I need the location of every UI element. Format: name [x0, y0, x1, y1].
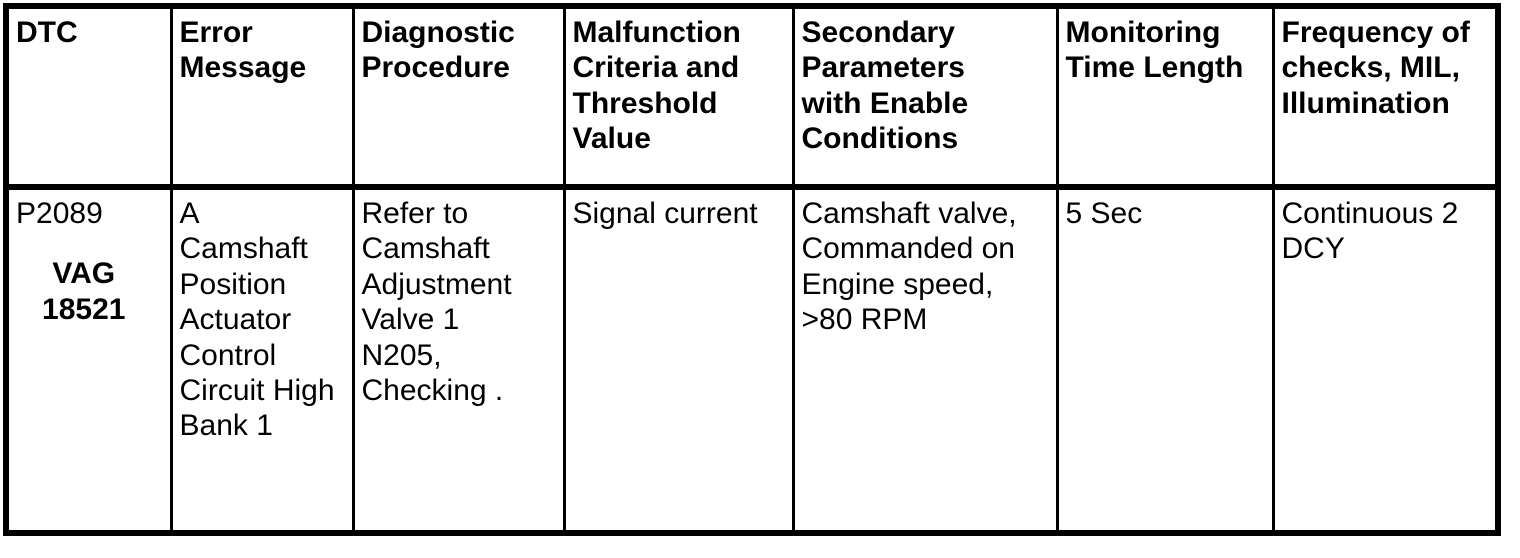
cell-diagnostic-procedure: Refer to Camshaft Adjustment Valve 1 N20…	[353, 187, 564, 533]
cell-line: Adjustment	[362, 267, 559, 302]
cell-line: Circuit High	[180, 373, 348, 408]
header-line: DTC	[16, 15, 166, 50]
header-line: Threshold	[573, 86, 788, 121]
cell-line: A	[180, 196, 348, 231]
cell-line: N205,	[362, 338, 559, 373]
cell-secondary-parameters: Camshaft valve, Commanded on Engine spee…	[793, 187, 1057, 533]
header-line: Procedure	[362, 50, 559, 85]
cell-line: Control	[180, 338, 348, 373]
cell-dtc: P2089 VAG 18521	[6, 187, 171, 533]
header-line: Secondary	[802, 15, 1052, 50]
cell-line: Valve 1	[362, 302, 559, 337]
column-header-monitoring-time-length: Monitoring Time Length	[1057, 6, 1273, 187]
header-line: Conditions	[802, 121, 1052, 156]
cell-line: Camshaft valve,	[802, 196, 1052, 231]
cell-line: Refer to	[362, 196, 559, 231]
cell-frequency-mil: Continuous 2 DCY	[1273, 187, 1498, 533]
dtc-vag-group: VAG 18521	[16, 256, 166, 327]
cell-line: Engine speed,	[802, 267, 1052, 302]
dtc-code: P2089	[16, 196, 166, 231]
cell-malfunction-criteria: Signal current	[564, 187, 793, 533]
cell-line: Bank 1	[180, 408, 348, 443]
column-header-malfunction-criteria: Malfunction Criteria and Threshold Value	[564, 6, 793, 187]
table-row: P2089 VAG 18521 A Camshaft Position Actu…	[6, 187, 1498, 533]
header-line: Criteria and	[573, 50, 788, 85]
table-header: DTC Error Message Diagnostic Procedure M…	[6, 6, 1498, 187]
cell-line: 5 Sec	[1066, 196, 1268, 231]
header-line: Malfunction	[573, 15, 788, 50]
cell-error-message: A Camshaft Position Actuator Control Cir…	[171, 187, 353, 533]
column-header-diagnostic-procedure: Diagnostic Procedure	[353, 6, 564, 187]
cell-line: >80 RPM	[802, 302, 1052, 337]
cell-line: Camshaft	[362, 231, 559, 266]
column-header-error-message: Error Message	[171, 6, 353, 187]
header-line: Message	[180, 50, 348, 85]
column-header-secondary-parameters: Secondary Parameters with Enable Conditi…	[793, 6, 1057, 187]
cell-line: Actuator	[180, 302, 348, 337]
header-line: Frequency of	[1282, 15, 1492, 50]
column-header-dtc: DTC	[6, 6, 171, 187]
header-line: Value	[573, 121, 788, 156]
dtc-table-container: DTC Error Message Diagnostic Procedure M…	[3, 3, 1495, 536]
column-header-frequency-mil: Frequency of checks, MIL, Illumination	[1273, 6, 1498, 187]
header-line: Diagnostic	[362, 15, 559, 50]
cell-line: DCY	[1282, 231, 1492, 266]
dtc-vag-label: VAG	[16, 256, 152, 291]
header-line: Error	[180, 15, 348, 50]
header-line: Illumination	[1282, 86, 1492, 121]
header-line: Monitoring	[1066, 15, 1268, 50]
cell-line: Checking .	[362, 373, 559, 408]
dtc-monitoring-table: DTC Error Message Diagnostic Procedure M…	[3, 3, 1501, 536]
cell-line: Position	[180, 267, 348, 302]
cell-monitoring-time-length: 5 Sec	[1057, 187, 1273, 533]
header-line: Parameters	[802, 50, 1052, 85]
cell-line: Continuous 2	[1282, 196, 1492, 231]
header-row: DTC Error Message Diagnostic Procedure M…	[6, 6, 1498, 187]
header-line: checks, MIL,	[1282, 50, 1492, 85]
cell-line: Signal current	[573, 196, 788, 231]
cell-line: Camshaft	[180, 231, 348, 266]
header-line: Time Length	[1066, 50, 1268, 85]
dtc-vag-number: 18521	[16, 292, 152, 327]
header-line: with Enable	[802, 86, 1052, 121]
table-body: P2089 VAG 18521 A Camshaft Position Actu…	[6, 187, 1498, 533]
cell-line: Commanded on	[802, 231, 1052, 266]
